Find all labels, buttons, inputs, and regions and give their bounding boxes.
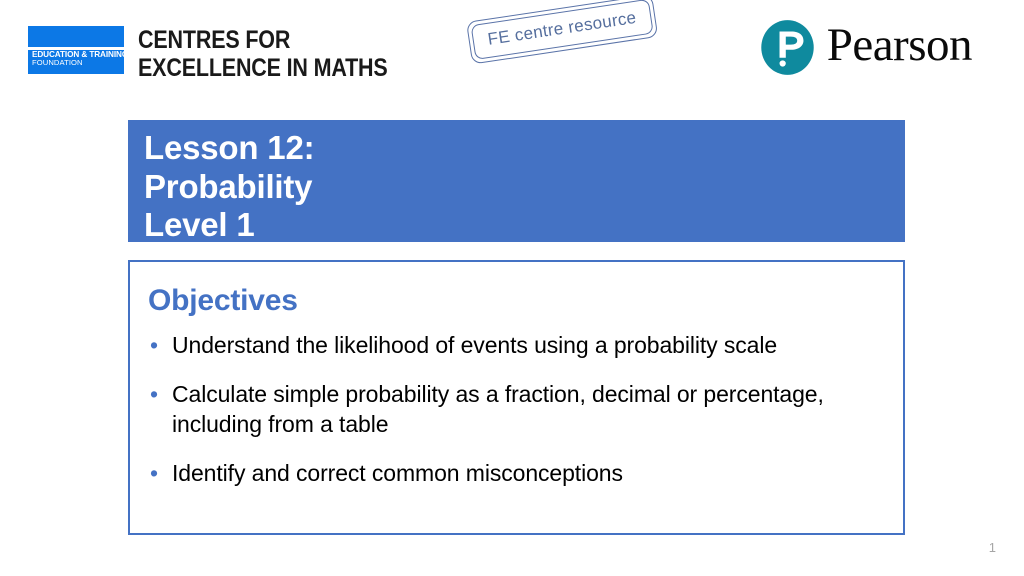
objectives-heading: Objectives — [148, 284, 885, 317]
pearson-wordmark: Pearson — [827, 22, 972, 69]
slide-header: EDUCATION & TRAINING FOUNDATION CENTRES … — [0, 0, 1024, 110]
fe-stamp-label: FE centre resource — [487, 9, 638, 48]
etf-logo-mark: EDUCATION & TRAINING FOUNDATION — [28, 26, 124, 74]
objective-list-item: • Identify and correct common misconcept… — [144, 458, 885, 489]
bullet-icon: • — [150, 330, 158, 361]
etf-logo-line-2: FOUNDATION — [32, 59, 122, 67]
cfem-title-line-1: CENTRES FOR — [138, 26, 388, 54]
centres-for-excellence-in-maths-title: CENTRES FOR EXCELLENCE IN MATHS — [138, 26, 388, 82]
etf-cfem-logo-lockup: EDUCATION & TRAINING FOUNDATION CENTRES … — [28, 26, 428, 82]
pearson-interrobang-icon — [759, 19, 816, 76]
bullet-icon: • — [150, 458, 158, 489]
lesson-title-text: Lesson 12: Probability Level 1 — [144, 129, 905, 245]
lesson-title-banner: Lesson 12: Probability Level 1 — [128, 120, 905, 242]
objective-text: Identify and correct common misconceptio… — [172, 460, 623, 486]
page-number: 1 — [989, 541, 996, 554]
etf-logo-text: EDUCATION & TRAINING FOUNDATION — [32, 51, 122, 67]
fe-stamp-inner-border: FE centre resource — [471, 0, 654, 60]
objectives-list: • Understand the likelihood of events us… — [144, 330, 885, 488]
objective-list-item: • Calculate simple probability as a frac… — [144, 379, 885, 440]
lesson-title-line-1: Lesson 12: — [144, 129, 905, 168]
pearson-logo-lockup: Pearson — [759, 19, 972, 76]
lesson-title-line-2: Probability — [144, 168, 905, 207]
fe-centre-resource-stamp: FE centre resource — [466, 0, 658, 65]
objective-list-item: • Understand the likelihood of events us… — [144, 330, 885, 361]
objective-text: Calculate simple probability as a fracti… — [172, 381, 824, 438]
objective-text: Understand the likelihood of events usin… — [172, 332, 777, 358]
bullet-icon: • — [150, 379, 158, 410]
slide-canvas: EDUCATION & TRAINING FOUNDATION CENTRES … — [0, 0, 1024, 576]
cfem-title-line-2: EXCELLENCE IN MATHS — [138, 54, 388, 82]
lesson-title-line-3: Level 1 — [144, 206, 905, 245]
objectives-panel: Objectives • Understand the likelihood o… — [128, 260, 905, 535]
